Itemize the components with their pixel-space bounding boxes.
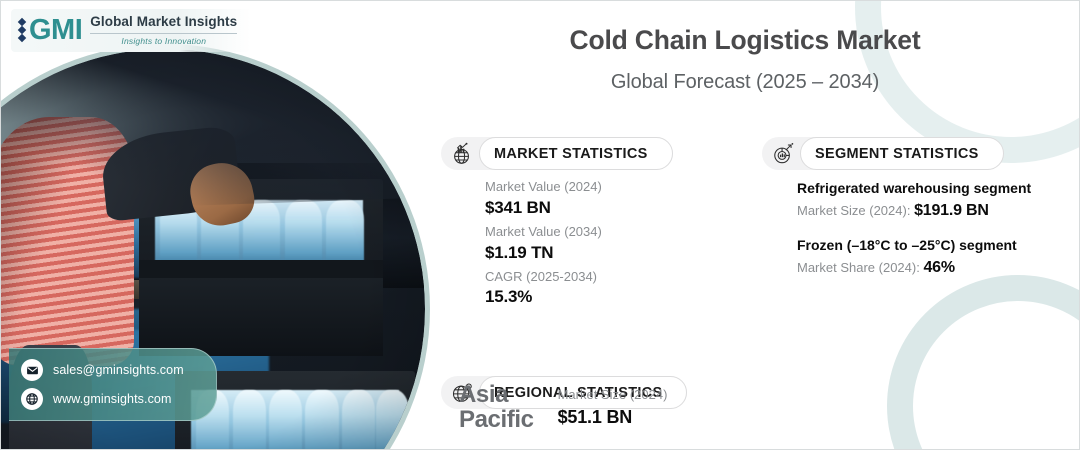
market-statistics-list: Market Value (2024) $341 BN Market Value… xyxy=(485,178,602,312)
segment-group-0-metric-label: Market Size (2024): xyxy=(797,203,910,218)
brand-name: Global Market Insights xyxy=(90,15,237,30)
contact-website-row[interactable]: www.gminsights.com xyxy=(21,388,204,410)
segment-group-1-metric-label: Market Share (2024): xyxy=(797,260,920,275)
contact-website: www.gminsights.com xyxy=(53,392,172,406)
brand-tagline: Insights to Innovation xyxy=(90,36,237,46)
region-metric-label: Market Size (2024) xyxy=(558,386,668,405)
market-row-2-label: CAGR (2025-2034) xyxy=(485,268,602,287)
regional-statistics-block: AsiaPacific Market Size (2024) $51.1 BN xyxy=(459,382,667,432)
infographic-card: sales@gminsights.com www.gminsights.com … xyxy=(0,0,1080,450)
region-metric: Market Size (2024) $51.1 BN xyxy=(558,386,668,432)
segment-group-0-heading: Refrigerated warehousing segment xyxy=(797,179,1067,198)
brand-text-block: Global Market Insights Insights to Innov… xyxy=(90,15,237,46)
segment-group-1-metric-value: 46% xyxy=(923,259,954,276)
content-area: Cold Chain Logistics Market Global Forec… xyxy=(407,1,1080,450)
segment-group-1-metric: Market Share (2024): 46% xyxy=(797,256,1067,280)
brand-divider xyxy=(90,33,237,34)
region-metric-value: $51.1 BN xyxy=(558,405,668,429)
segment-group-0-metric: Market Size (2024): $191.9 BN xyxy=(797,199,1067,223)
market-statistics-label: MARKET STATISTICS xyxy=(479,137,673,170)
brand-logo[interactable]: GMI Global Market Insights Insights to I… xyxy=(11,9,251,52)
market-row-1-label: Market Value (2034) xyxy=(485,223,602,242)
contact-email-row[interactable]: sales@gminsights.com xyxy=(21,359,204,381)
donut-chart-arrow-icon xyxy=(766,137,800,170)
market-row-1-value: $1.19 TN xyxy=(485,242,602,265)
segment-statistics-label: SEGMENT STATISTICS xyxy=(800,137,1004,170)
market-row-2-value: 15.3% xyxy=(485,286,602,309)
segment-group-1-heading: Frozen (–18°C to –25°C) segment xyxy=(797,236,1067,255)
segment-spacer xyxy=(797,223,1067,236)
market-statistics-pill[interactable]: MARKET STATISTICS xyxy=(441,137,673,170)
gmi-logomark: GMI xyxy=(19,16,82,45)
envelope-icon xyxy=(21,359,43,381)
segment-statistics-pill[interactable]: SEGMENT STATISTICS xyxy=(762,137,1004,170)
contact-email: sales@gminsights.com xyxy=(53,363,184,377)
market-row-0-value: $341 BN xyxy=(485,197,602,220)
gmi-wordmark: GMI xyxy=(29,16,82,45)
segment-group-0-metric-value: $191.9 BN xyxy=(914,202,989,219)
market-row-0-label: Market Value (2024) xyxy=(485,178,602,197)
segment-statistics-list: Refrigerated warehousing segment Market … xyxy=(797,179,1067,280)
globe-bar-chart-icon xyxy=(445,137,479,170)
gmi-diamonds-icon xyxy=(19,19,25,41)
region-name: AsiaPacific xyxy=(459,382,534,432)
page-subtitle: Global Forecast (2025 – 2034) xyxy=(415,71,1075,94)
globe-icon xyxy=(21,388,43,410)
contact-panel: sales@gminsights.com www.gminsights.com xyxy=(9,348,217,421)
page-title: Cold Chain Logistics Market xyxy=(415,25,1075,56)
